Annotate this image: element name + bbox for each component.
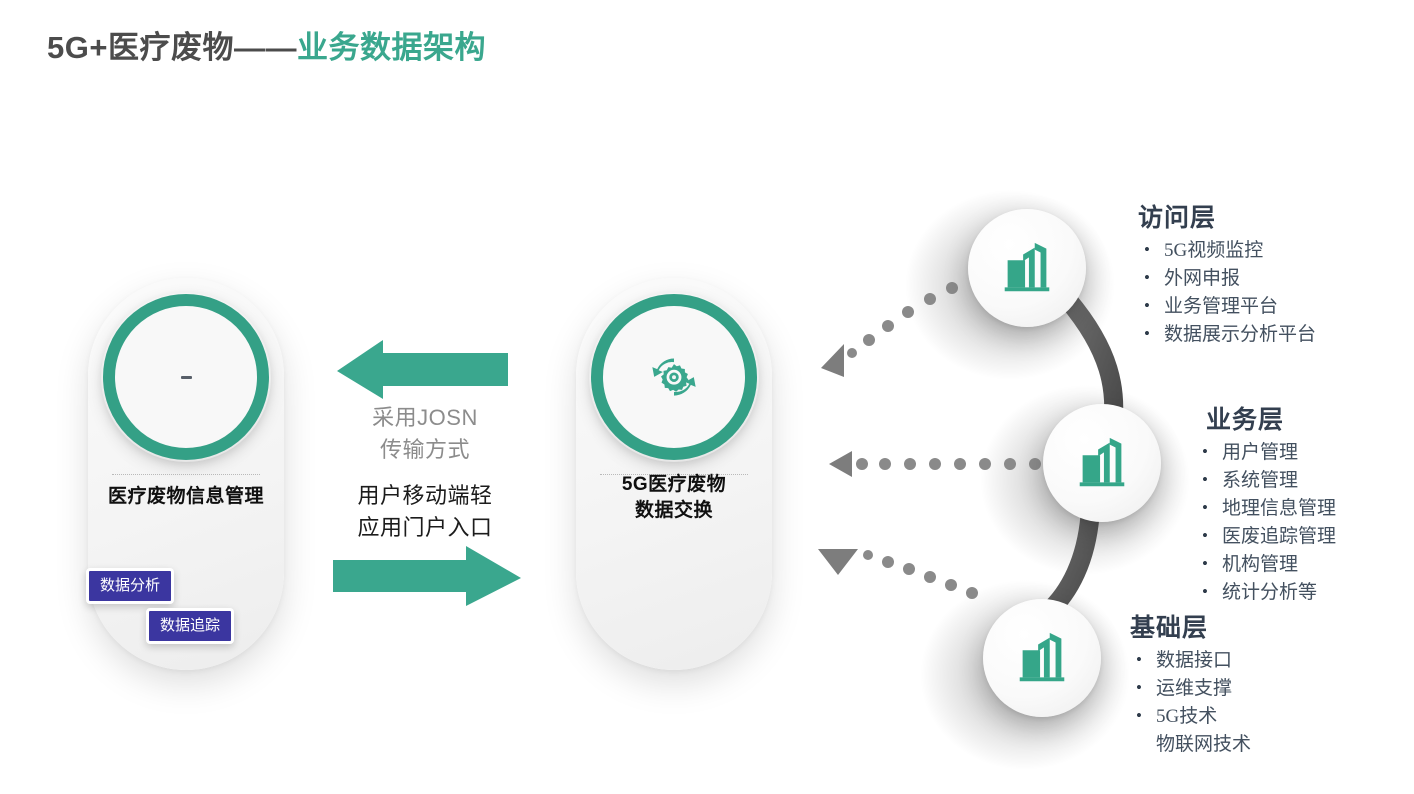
list-item: 物联网技术	[1130, 731, 1251, 759]
dotted-arrow-2	[829, 451, 1041, 477]
card-title-left: 医疗废物信息管理	[88, 484, 284, 510]
list-item: 用户管理	[1196, 439, 1336, 467]
page-title: 5G+医疗废物——业务数据架构	[47, 22, 486, 67]
list-item: 医废追踪管理	[1196, 523, 1336, 551]
list-item: 5G视频监控	[1138, 237, 1316, 265]
layer-text-access: 访问层 5G视频监控 外网申报 业务管理平台 数据展示分析平台	[1138, 198, 1316, 349]
layer-list-access: 5G视频监控 外网申报 业务管理平台 数据展示分析平台	[1138, 237, 1316, 349]
building-chart-icon	[996, 237, 1058, 299]
card-title-center-line2: 数据交换	[576, 498, 772, 524]
layer-text-foundation: 基础层 数据接口 运维支撑 5G技术 物联网技术	[1130, 608, 1251, 759]
flow-label-json: 采用JOSN 传输方式	[330, 402, 520, 466]
card-title-center: 5G医疗废物 数据交换	[576, 472, 772, 524]
layer-heading-foundation: 基础层	[1130, 608, 1251, 644]
gear-recycle-icon	[591, 294, 757, 460]
card-title-center-line1: 5G医疗废物	[576, 472, 772, 498]
empty-ring-icon	[103, 294, 269, 460]
list-item: 5G技术	[1130, 703, 1251, 731]
list-item: 业务管理平台	[1138, 293, 1316, 321]
list-item: 数据接口	[1130, 647, 1251, 675]
list-item: 系统管理	[1196, 467, 1336, 495]
card-divider	[112, 474, 260, 475]
dotted-arrow-1	[821, 282, 958, 377]
list-item: 机构管理	[1196, 551, 1336, 579]
flow-arrow-right	[333, 546, 521, 606]
list-item: 地理信息管理	[1196, 495, 1336, 523]
card-5g-data-exchange[interactable]: 5G医疗废物 数据交换	[576, 278, 772, 670]
dotted-arrow-3	[818, 549, 978, 599]
page-title-dark: 5G+医疗废物——	[47, 30, 297, 65]
layer-list-foundation: 数据接口 运维支撑 5G技术 物联网技术	[1130, 647, 1251, 759]
layer-text-business: 业务层 用户管理 系统管理 地理信息管理 医废追踪管理 机构管理 统计分析等	[1196, 400, 1336, 607]
layer-list-business: 用户管理 系统管理 地理信息管理 医废追踪管理 机构管理 统计分析等	[1196, 439, 1336, 607]
ring-center-mark	[181, 376, 192, 379]
layer-heading-access: 访问层	[1138, 198, 1316, 234]
flow-label-portal: 用户移动端轻 应用门户入口	[330, 480, 520, 544]
layer-node-business[interactable]	[1043, 404, 1161, 522]
layer-heading-business: 业务层	[1206, 400, 1336, 436]
building-chart-icon	[1011, 627, 1073, 689]
list-item: 运维支撑	[1130, 675, 1251, 703]
list-item: 外网申报	[1138, 265, 1316, 293]
page-title-accent: 业务数据架构	[297, 30, 486, 65]
card-waste-info-management[interactable]: 医疗废物信息管理 数据分析 数据追踪	[88, 278, 284, 670]
center-card-ring-wrap	[589, 292, 759, 462]
list-item: 统计分析等	[1196, 579, 1336, 607]
layer-node-access[interactable]	[968, 209, 1086, 327]
list-item: 数据展示分析平台	[1138, 321, 1316, 349]
building-chart-icon	[1071, 432, 1133, 494]
gear-recycle-glyph	[641, 344, 707, 410]
flow-arrow-left	[337, 340, 508, 399]
left-card-ring-wrap	[101, 292, 271, 462]
layer-node-foundation[interactable]	[983, 599, 1101, 717]
badge-data-tracking[interactable]: 数据追踪	[146, 608, 234, 644]
badge-data-analysis[interactable]: 数据分析	[86, 568, 174, 604]
connector-band-bottom	[1048, 516, 1090, 612]
slide-canvas: 5G+医疗废物——业务数据架构	[0, 0, 1414, 794]
